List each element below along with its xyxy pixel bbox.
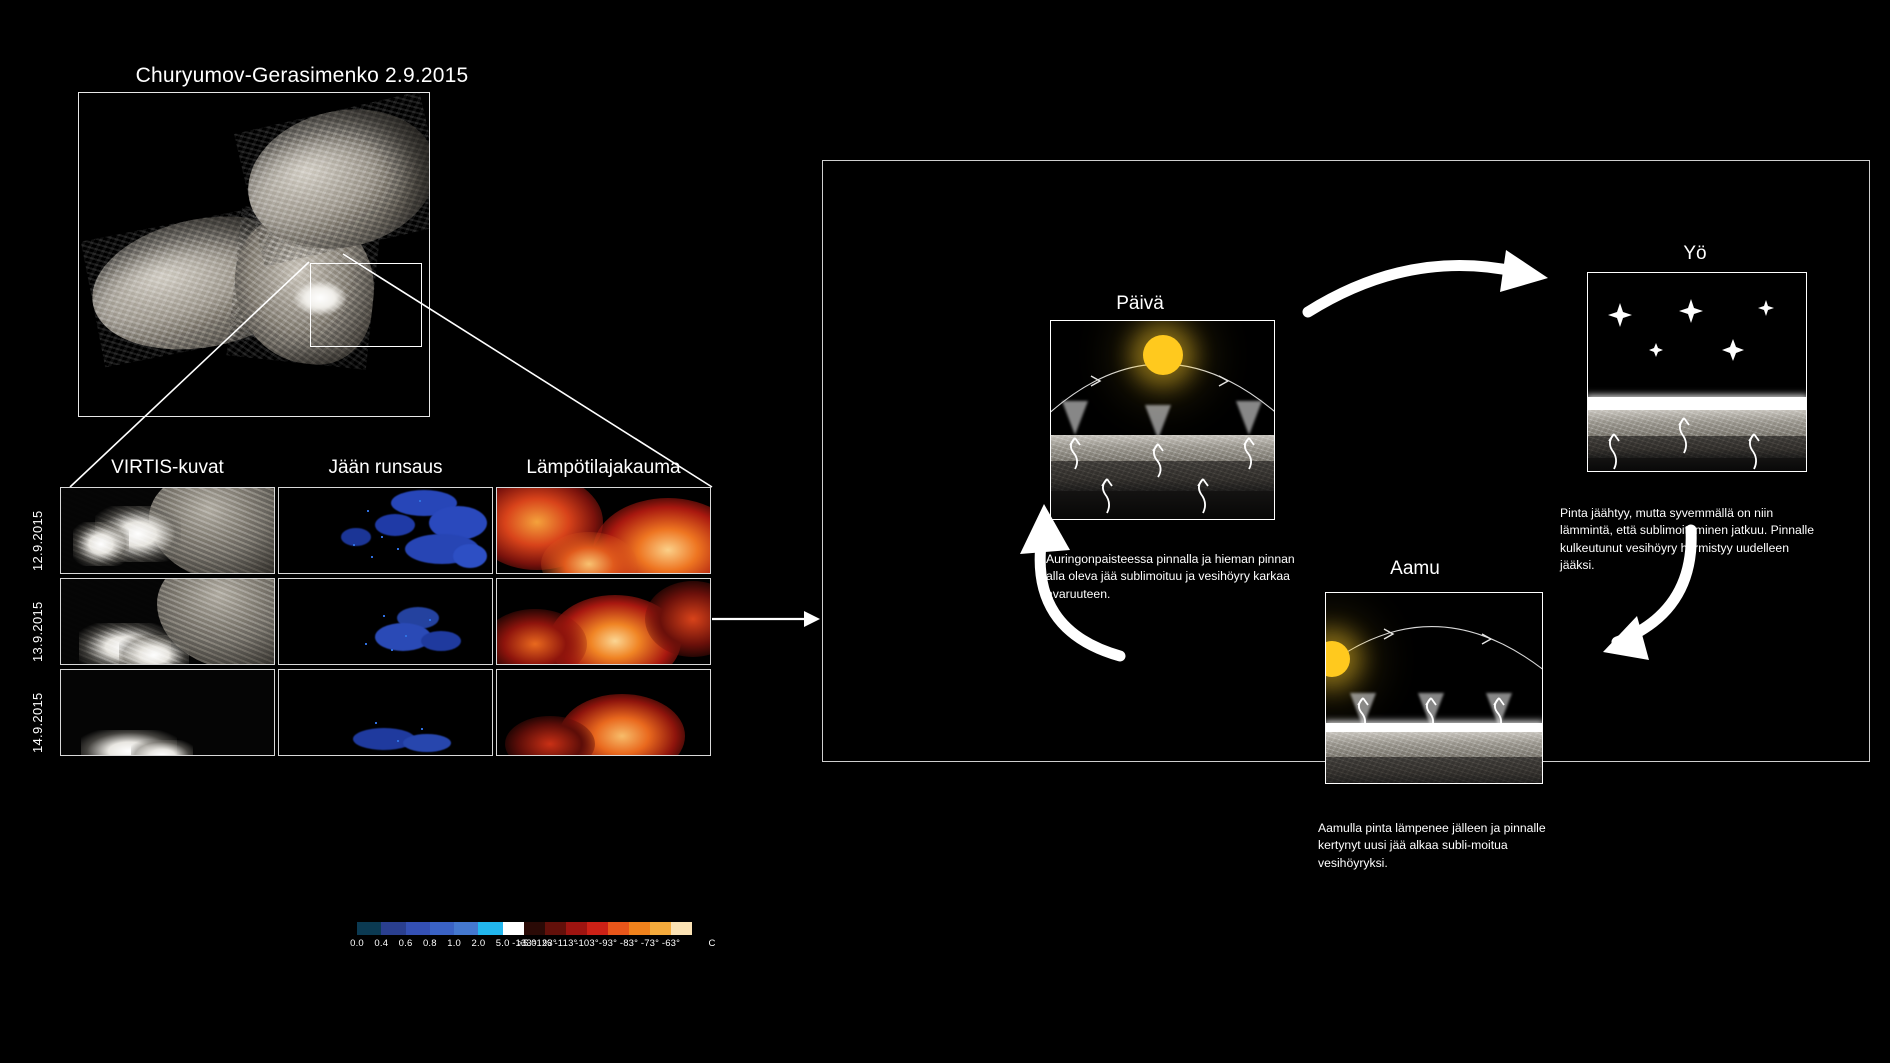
colorbar-tick: -93° bbox=[599, 938, 617, 949]
colorbar-tick: 0.4 bbox=[374, 938, 388, 949]
panel-label-morning: Aamu bbox=[1315, 558, 1515, 580]
sublimation-arrows-morning bbox=[1326, 689, 1542, 739]
colorbar-tick: -113° bbox=[554, 938, 577, 949]
panel-morning bbox=[1325, 592, 1543, 784]
temperature-colorbar bbox=[524, 922, 692, 935]
colorbar-segment bbox=[406, 922, 430, 935]
cell-temperature-13-9 bbox=[496, 578, 711, 665]
colorbar-segment bbox=[629, 922, 650, 935]
column-header-temperature: Lämpötilajakauma bbox=[496, 457, 711, 479]
colorbar-segment bbox=[524, 922, 545, 935]
cell-virtis-12-9 bbox=[60, 487, 275, 574]
colorbar-tick: 1.0 bbox=[447, 938, 461, 949]
column-header-ice: Jään runsaus bbox=[278, 457, 493, 479]
colorbar-segment bbox=[430, 922, 454, 935]
cell-virtis-13-9 bbox=[60, 578, 275, 665]
colorbar-segment bbox=[478, 922, 502, 935]
temperature-colorbar-ticks: -133°-123°-113°-103°-93°-83°-73°-63°C bbox=[524, 938, 724, 952]
comet-photo-frame bbox=[78, 92, 430, 417]
page-title: Churyumov-Gerasimenko 2.9.2015 bbox=[92, 64, 512, 88]
stars-group-icon bbox=[1588, 273, 1806, 399]
cycle-arrow-morning-to-day bbox=[1000, 490, 1170, 670]
colorbar-tick: 0.6 bbox=[399, 938, 413, 949]
colorbar-segment bbox=[650, 922, 671, 935]
colorbar-segment bbox=[671, 922, 692, 935]
panel-night bbox=[1587, 272, 1807, 472]
sun-icon-day bbox=[1143, 335, 1183, 375]
region-of-interest-box bbox=[310, 263, 422, 347]
cycle-arrow-night-to-morning bbox=[1545, 520, 1715, 680]
cell-temperature-14-9 bbox=[496, 669, 711, 756]
colorbar-tick: -83° bbox=[620, 938, 638, 949]
column-header-virtis: VIRTIS-kuvat bbox=[60, 457, 275, 479]
row-label-date-2: 14.9.2015 bbox=[30, 669, 45, 777]
colorbar-segment bbox=[566, 922, 587, 935]
cell-ice-14-9 bbox=[278, 669, 493, 756]
panel-label-night: Yö bbox=[1580, 243, 1810, 265]
colorbar-tick: 0.0 bbox=[350, 938, 364, 949]
colorbar-tick: -123° bbox=[533, 938, 557, 949]
cell-virtis-14-9 bbox=[60, 669, 275, 756]
colorbar-tick: -103° bbox=[575, 938, 599, 949]
flow-arrow-icon bbox=[712, 608, 820, 630]
colorbar-unit: C bbox=[708, 938, 715, 949]
colorbar-tick: 0.8 bbox=[423, 938, 437, 949]
colorbar-tick: 5.0 bbox=[496, 938, 510, 949]
caption-morning: Aamulla pinta lämpenee jälleen ja pinnal… bbox=[1318, 820, 1570, 872]
colorbar-tick: 2.0 bbox=[472, 938, 486, 949]
sublimation-arrows-night bbox=[1588, 391, 1806, 472]
cell-ice-12-9 bbox=[278, 487, 493, 574]
cycle-arrow-day-to-night bbox=[1300, 250, 1570, 330]
colorbar-segment bbox=[357, 922, 381, 935]
panel-label-day: Päivä bbox=[1040, 293, 1240, 315]
colorbar-tick: -63° bbox=[662, 938, 680, 949]
cell-temperature-12-9 bbox=[496, 487, 711, 574]
colorbar-segment bbox=[454, 922, 478, 935]
ice-colorbar bbox=[357, 922, 527, 935]
colorbar-tick: -73° bbox=[641, 938, 659, 949]
cell-ice-13-9 bbox=[278, 578, 493, 665]
colorbar-segment bbox=[608, 922, 629, 935]
comet-large-lobe bbox=[234, 92, 430, 267]
colorbar-segment bbox=[587, 922, 608, 935]
colorbar-segment bbox=[381, 922, 405, 935]
colorbar-segment bbox=[545, 922, 566, 935]
